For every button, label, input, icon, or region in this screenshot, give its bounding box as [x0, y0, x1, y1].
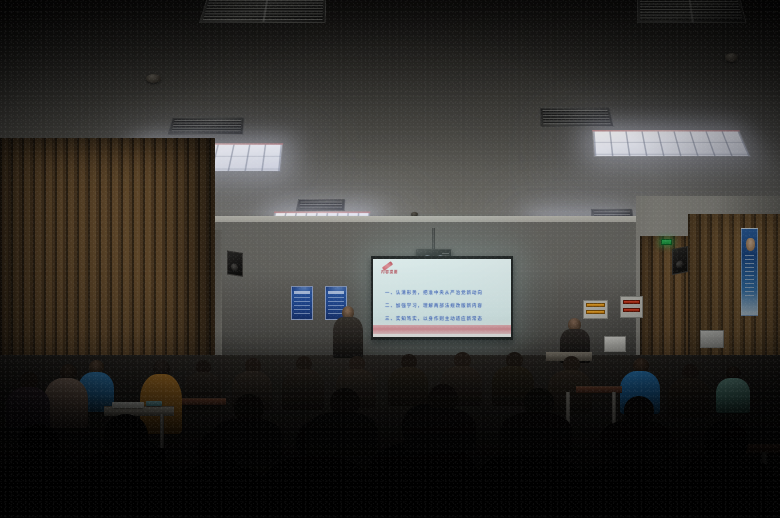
banner-text-block: [745, 255, 754, 299]
audience-silhouette: [212, 394, 282, 458]
slide-title: 内容提要: [381, 270, 398, 275]
presenter-body: [333, 317, 363, 358]
slide-line-1: 一、认清形势，把准中央从严治党新动向: [385, 290, 483, 296]
audience-mint-jacket: [716, 366, 750, 412]
ac-vent-top-center: [199, 0, 327, 23]
audience-silhouette: [500, 388, 572, 454]
smoke-detector-right: [725, 53, 738, 62]
audience-silhouette: [306, 388, 378, 454]
lecture-room-photo: 内容提要 一、认清形势，把准中央从严治党新动向 二、加强学习，理解两部法规改版新…: [0, 0, 780, 518]
slide-line-3: 三、实知笃实，以身作则主动适应新常态: [385, 316, 483, 322]
presentation-slide: 内容提要 一、认清形势，把准中央从严治党新动向 二、加强学习，理解两部法规改版新…: [373, 259, 511, 337]
audience-silhouette: [600, 396, 672, 460]
exit-sign: [661, 239, 672, 245]
ac-vent-above-screen: [296, 199, 345, 211]
audience-silhouette: [404, 384, 476, 450]
audience-member: [668, 364, 710, 418]
desk-paper: [112, 402, 144, 408]
smoke-detector-left: [146, 74, 161, 83]
audience-member: [6, 372, 50, 430]
banner-portrait: [746, 238, 755, 251]
ac-vent-upper-right: [637, 0, 747, 23]
wall-notice-right: [700, 330, 724, 348]
audience-body: [716, 378, 750, 413]
desk-notebook: [146, 401, 162, 406]
slide-footer-edge: [373, 334, 511, 337]
wall-speaker-right: [672, 246, 688, 275]
wall-notice-center-right: [604, 336, 626, 352]
wall-poster-left: [291, 286, 313, 320]
projection-screen: 内容提要 一、认清形势，把准中央从严治党新动向 二、加强学习，理解两部法规改版新…: [371, 256, 513, 340]
audience-silhouette: [670, 420, 780, 518]
wall-speaker-left: [227, 250, 243, 277]
sign-panel-yellow-left: [583, 300, 608, 319]
troffer-right-front: [592, 130, 751, 157]
ac-vent-mid-left: [168, 118, 245, 135]
projector-mount-pole: [432, 228, 435, 250]
ac-vent-mid-right: [539, 108, 614, 127]
slide-line-2: 二、加强学习，理解两部法规改版新内容: [385, 303, 483, 309]
sign-panel-yellow-right: [620, 296, 643, 318]
portrait-banner: [741, 228, 758, 316]
presenter-at-screen: [333, 306, 363, 358]
slide-footer-band: [373, 325, 511, 334]
